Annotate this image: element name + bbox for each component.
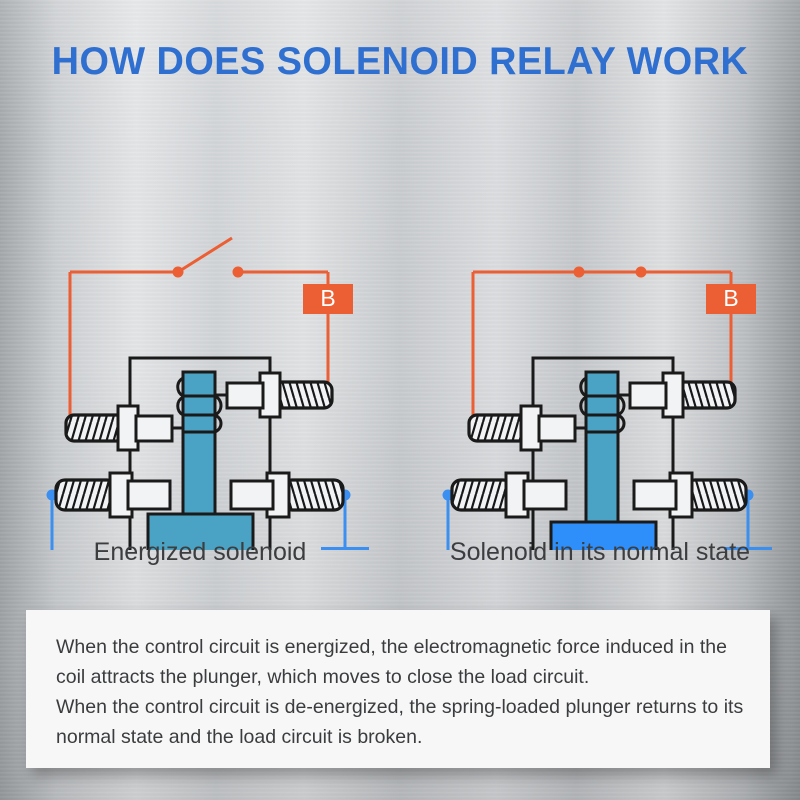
description-line-4: normal state and the load circuit is bro…: [56, 722, 740, 752]
description-line-2: coil attracts the plunger, which moves t…: [56, 662, 740, 692]
description-line-1: When the control circuit is energized, t…: [56, 632, 740, 662]
page-title: HOW DOES SOLENOID RELAY WORK: [12, 40, 788, 84]
control-badge-label-left: B: [320, 285, 335, 311]
control-terminal-bolt-left-r: [469, 406, 575, 450]
control-terminal-bolt-left: [66, 406, 172, 450]
caption-normal-solenoid: Solenoid in its normal state: [400, 538, 800, 567]
control-terminal-bolt-right: [227, 373, 332, 417]
load-terminal-bolt-left: [56, 473, 170, 517]
description-panel: When the control circuit is energized, t…: [26, 610, 770, 768]
switch-node-b-left: [233, 267, 244, 278]
control-terminal-bolt-right-r: [630, 373, 735, 417]
switch-node-b-right: [636, 267, 647, 278]
switch-node-a-left: [173, 267, 184, 278]
diagram-normal-solenoid: B B L: [443, 267, 773, 551]
load-terminal-bolt-right-r: [634, 473, 746, 517]
description-line-3: When the control circuit is de-energized…: [56, 692, 740, 722]
load-terminal-bolt-left-r: [452, 473, 566, 517]
control-badge-label-right: B: [723, 285, 738, 311]
load-terminal-bolt-right: [231, 473, 343, 517]
diagram-energized-solenoid: B B L: [47, 238, 370, 550]
control-switch-blade-left: [178, 238, 232, 272]
poster-canvas: HOW DOES SOLENOID RELAY WORK: [0, 0, 800, 800]
solenoid-diagrams: B B L: [0, 110, 800, 550]
caption-energized-solenoid: Energized solenoid: [0, 538, 400, 567]
switch-node-a-right: [574, 267, 585, 278]
